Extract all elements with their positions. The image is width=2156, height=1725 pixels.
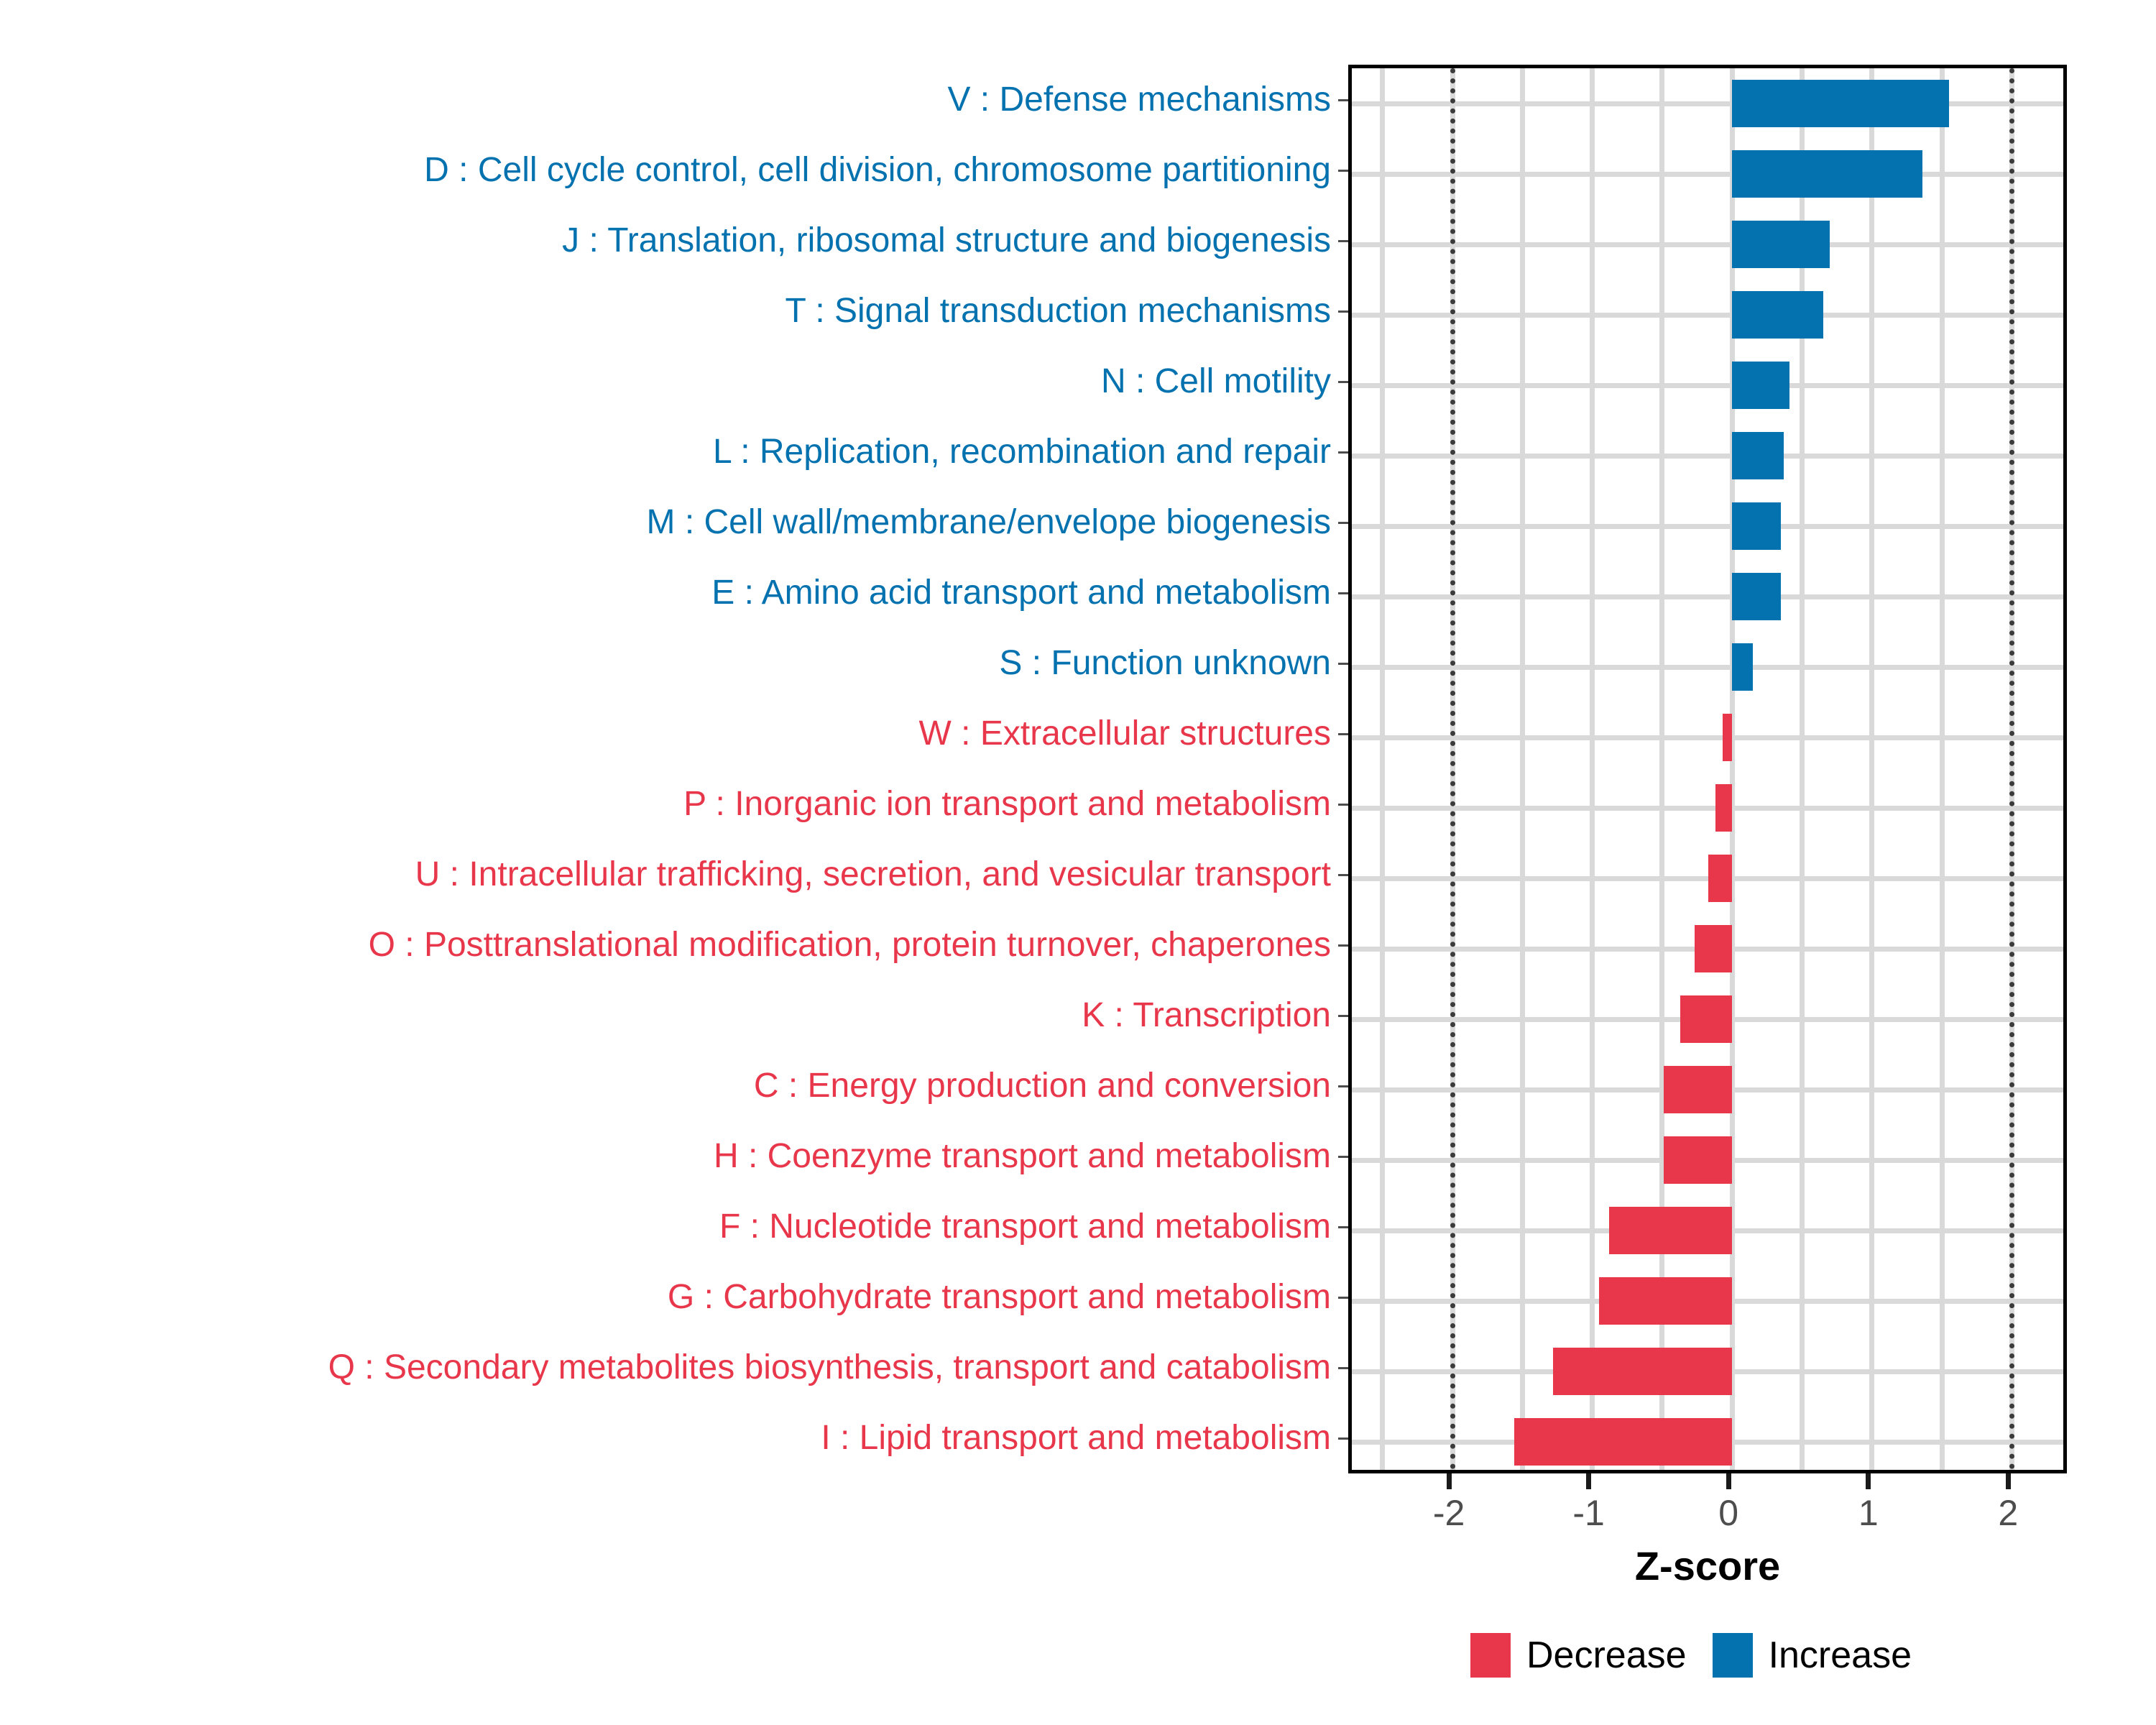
x-axis-tick	[1726, 1473, 1731, 1489]
bar	[1695, 925, 1733, 972]
y-axis-tick	[1338, 522, 1348, 524]
bar	[1732, 432, 1784, 479]
y-axis-tick	[1338, 1085, 1348, 1087]
bar	[1732, 573, 1781, 620]
category-label: N : Cell motility	[1101, 346, 1331, 417]
y-axis-tick	[1338, 170, 1348, 172]
x-axis-tick-label: -1	[1546, 1492, 1632, 1534]
cog-zscore-bar-chart: V : Defense mechanismsD : Cell cycle con…	[0, 0, 2156, 1725]
x-axis-tick-label: 1	[1825, 1492, 1912, 1534]
category-label: D : Cell cycle control, cell division, c…	[424, 135, 1331, 206]
chart-legend: DecreaseIncrease	[1348, 1633, 2110, 1678]
category-label: S : Function unknown	[999, 628, 1331, 699]
vertical-gridline	[1800, 68, 1805, 1470]
y-axis-tick	[1338, 874, 1348, 876]
legend-label: Decrease	[1526, 1634, 1687, 1677]
x-axis-tick-label: -2	[1406, 1492, 1492, 1534]
category-label: W : Extracellular structures	[919, 699, 1331, 769]
category-label: I : Lipid transport and metabolism	[821, 1403, 1331, 1473]
horizontal-gridline	[1352, 876, 2063, 881]
horizontal-gridline	[1352, 524, 2063, 529]
legend-label: Increase	[1769, 1634, 1912, 1677]
category-label: C : Energy production and conversion	[754, 1051, 1331, 1121]
x-axis-tick-label: 2	[1965, 1492, 2051, 1534]
horizontal-gridline	[1352, 454, 2063, 459]
y-axis-tick	[1338, 451, 1348, 454]
category-label: P : Inorganic ion transport and metaboli…	[683, 769, 1331, 839]
y-axis-tick	[1338, 804, 1348, 806]
bar	[1599, 1277, 1732, 1325]
horizontal-gridline	[1352, 594, 2063, 599]
bar	[1732, 80, 1949, 127]
bar	[1553, 1348, 1732, 1395]
bar	[1732, 221, 1830, 268]
category-label: T : Signal transduction mechanisms	[786, 276, 1331, 346]
x-axis-tick-label: 0	[1685, 1492, 1772, 1534]
horizontal-gridline	[1352, 313, 2063, 318]
x-axis-tick	[1866, 1473, 1871, 1489]
bar	[1664, 1136, 1732, 1184]
bar	[1723, 714, 1733, 761]
horizontal-gridline	[1352, 242, 2063, 247]
y-axis-tick	[1338, 1437, 1348, 1440]
category-label: O : Posttranslational modification, prot…	[369, 910, 1331, 980]
y-axis-tick	[1338, 1156, 1348, 1158]
bar	[1609, 1207, 1732, 1254]
plot-area	[1352, 68, 2063, 1470]
y-axis-tick	[1338, 310, 1348, 313]
bar	[1732, 150, 1922, 198]
category-label: F : Nucleotide transport and metabolism	[719, 1192, 1331, 1262]
category-label-column: V : Defense mechanismsD : Cell cycle con…	[0, 65, 1348, 1473]
vertical-gridline	[1520, 68, 1525, 1470]
vertical-gridline	[1730, 68, 1735, 1470]
vertical-gridline	[1380, 68, 1385, 1470]
bar	[1664, 1066, 1732, 1113]
category-label: L : Replication, recombination and repai…	[713, 417, 1331, 487]
legend-item[interactable]: Decrease	[1470, 1633, 1687, 1678]
y-axis-tick	[1338, 381, 1348, 383]
category-label: J : Translation, ribosomal structure and…	[562, 206, 1331, 276]
x-axis-tick	[2006, 1473, 2011, 1489]
y-axis-tick	[1338, 592, 1348, 594]
horizontal-gridline	[1352, 806, 2063, 811]
horizontal-gridline	[1352, 172, 2063, 177]
category-label: K : Transcription	[1082, 980, 1331, 1051]
y-axis-tick	[1338, 240, 1348, 242]
category-label: Q : Secondary metabolites biosynthesis, …	[328, 1333, 1331, 1403]
bar	[1680, 995, 1732, 1043]
vertical-gridline	[1590, 68, 1595, 1470]
category-label: G : Carbohydrate transport and metabolis…	[668, 1262, 1331, 1333]
y-axis-tick	[1338, 99, 1348, 101]
y-axis-tick	[1338, 1367, 1348, 1369]
y-axis-tick	[1338, 1226, 1348, 1228]
plot-panel	[1348, 65, 2067, 1473]
bar	[1708, 855, 1732, 902]
legend-swatch	[1713, 1633, 1753, 1678]
horizontal-gridline	[1352, 101, 2063, 106]
vertical-gridline	[1940, 68, 1945, 1470]
vertical-gridline	[1659, 68, 1664, 1470]
y-axis-tick	[1338, 944, 1348, 947]
bar	[1732, 291, 1823, 339]
reference-line	[2009, 68, 2014, 1470]
legend-swatch	[1470, 1633, 1511, 1678]
bar	[1715, 784, 1732, 832]
category-label: E : Amino acid transport and metabolism	[711, 558, 1331, 628]
horizontal-gridline	[1352, 383, 2063, 388]
y-axis-tick	[1338, 733, 1348, 735]
vertical-gridline	[1869, 68, 1874, 1470]
x-axis-title: Z-score	[1348, 1542, 2067, 1589]
x-axis-tick	[1447, 1473, 1452, 1489]
reference-line	[1450, 68, 1455, 1470]
category-label: H : Coenzyme transport and metabolism	[714, 1121, 1331, 1192]
horizontal-gridline	[1352, 735, 2063, 740]
category-label: M : Cell wall/membrane/envelope biogenes…	[647, 487, 1331, 558]
category-label: U : Intracellular trafficking, secretion…	[415, 839, 1331, 910]
y-axis-tick	[1338, 663, 1348, 665]
bar	[1732, 502, 1781, 550]
y-axis-tick	[1338, 1297, 1348, 1299]
category-label: V : Defense mechanisms	[947, 65, 1331, 135]
x-axis-tick	[1586, 1473, 1591, 1489]
bar	[1514, 1418, 1733, 1466]
bar	[1732, 643, 1753, 691]
horizontal-gridline	[1352, 665, 2063, 670]
bar	[1732, 362, 1789, 409]
y-axis-tick	[1338, 1015, 1348, 1017]
legend-item[interactable]: Increase	[1713, 1633, 1912, 1678]
